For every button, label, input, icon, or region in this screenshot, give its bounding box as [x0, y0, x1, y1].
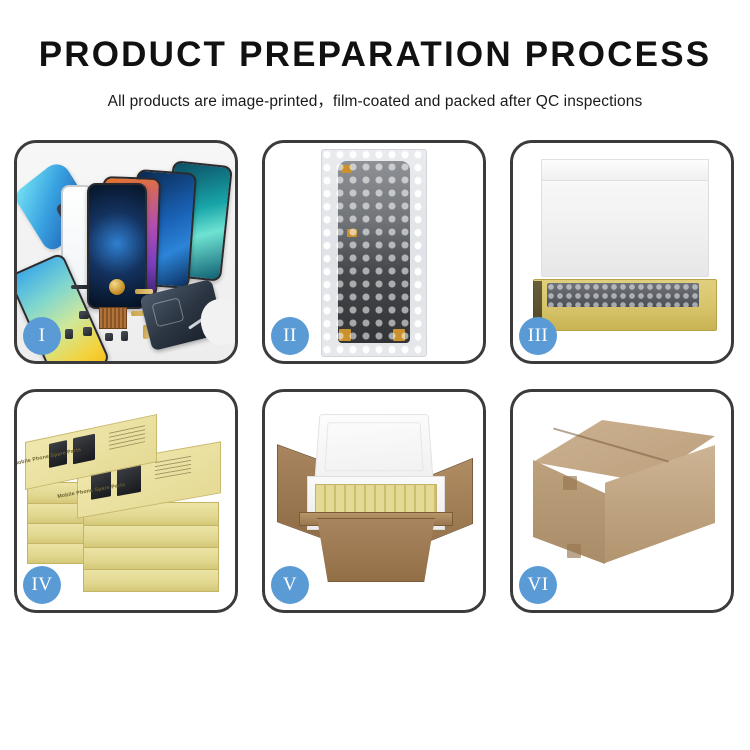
carton-body: [309, 518, 443, 582]
adhesive-tab-mid: [347, 229, 357, 237]
step-badge-4: IV: [23, 566, 61, 604]
adhesive-tab-left: [339, 329, 351, 341]
adhesive-tab-right: [393, 329, 405, 341]
step-badge-6: VI: [519, 566, 557, 604]
lcd-screen-assembly: [338, 161, 410, 343]
step-panel-1: I: [14, 140, 238, 364]
step-badge-1: I: [23, 317, 61, 355]
retail-box-stack-right-3: [83, 524, 219, 548]
adhesive-tab-top: [341, 165, 352, 173]
step-badge-2: II: [271, 317, 309, 355]
page-subtitle: All products are image-printed，film-coat…: [0, 89, 750, 111]
foam-lid: [314, 414, 433, 481]
bubble-wrapped-contents: [547, 283, 699, 307]
page-title: PRODUCT PREPARATION PROCESS: [0, 36, 750, 75]
chip-part-d: [121, 331, 128, 341]
chip-part-c: [105, 333, 113, 341]
carton-tape-upper: [563, 476, 577, 490]
step-badge-3: III: [519, 317, 557, 355]
retail-box-stack-right-5: [83, 568, 219, 592]
step-badge-5: V: [271, 566, 309, 604]
step-panel-5: V: [262, 389, 486, 613]
step-panel-4: Mobile Phone Spare Parts Mobile Phone Sp…: [14, 389, 238, 613]
carton-tape-lower: [567, 544, 581, 558]
step-panel-2: II: [262, 140, 486, 364]
step-panel-3: III: [510, 140, 734, 364]
box-lid-flap: [541, 159, 709, 181]
step-panel-6: VI: [510, 389, 734, 613]
chip-part-a: [79, 311, 89, 319]
logic-board-part: [99, 307, 127, 329]
earpiece-mesh-part: [71, 285, 91, 289]
chip-part-e: [65, 329, 73, 339]
page-header: PRODUCT PREPARATION PROCESS All products…: [0, 0, 750, 111]
process-steps-grid: I II III: [14, 140, 736, 613]
speaker-part: [109, 279, 125, 295]
chip-part-b: [83, 327, 92, 336]
retail-box-stack-right-4: [83, 546, 219, 570]
